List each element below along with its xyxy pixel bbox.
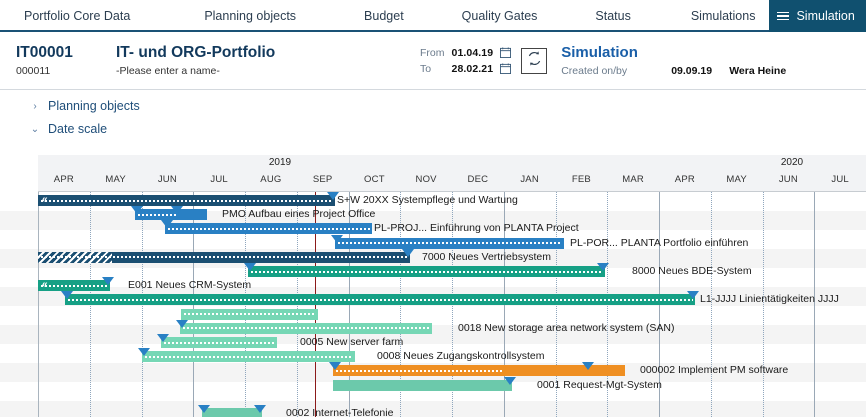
gantt-bar-progress (182, 326, 430, 330)
calendar-icon[interactable] (500, 63, 511, 74)
gantt-bar-label: 7000 Neues Vertriebsystem (422, 252, 551, 263)
scale-month-label: NOV (416, 174, 437, 185)
created-date: 09.09.19 (671, 65, 729, 77)
gantt-bar-progress (183, 312, 316, 316)
created-label: Created on/by (561, 65, 671, 77)
gantt-time-scale-header: 20192020APRMAYJUNJULAUGSEPOCTNOVDECJANFE… (0, 155, 866, 192)
date-range-fields: From 01.04.19 To 28.02.21 (420, 47, 511, 75)
milestone-marker-icon[interactable] (138, 348, 150, 356)
gantt-bar-label: L1-JJJJ Linientätigkeiten JJJJ (700, 294, 839, 305)
gantt-bar-label: 0005 New server farm (300, 337, 403, 348)
gantt-bar-label: S+W 20XX Systempflege und Wartung (337, 195, 518, 206)
milestone-marker-icon[interactable] (687, 291, 699, 299)
simulation-created-row: Created on/by 09.09.19 Wera Heine (561, 65, 786, 77)
portfolio-id: IT00001 (16, 44, 116, 62)
section-label: Planning objects (48, 99, 140, 113)
milestone-marker-icon[interactable] (402, 249, 414, 257)
collapse-left-icon[interactable]: « (42, 194, 47, 205)
gantt-chart: 20192020APRMAYJUNJULAUGSEPOCTNOVDECJANFE… (0, 155, 866, 417)
gantt-bar-progress (335, 369, 502, 373)
portfolio-secondary-row: 000011 -Please enter a name- (16, 65, 420, 77)
scale-month-label: AUG (260, 174, 281, 185)
milestone-marker-icon[interactable] (597, 263, 609, 271)
collapse-left-icon[interactable]: « (42, 279, 47, 290)
to-label: To (420, 63, 445, 75)
gantt-bar-label: PL-PROJ... Einführung von PLANTA Project (374, 223, 579, 234)
calendar-icon[interactable] (500, 47, 511, 58)
milestone-marker-icon[interactable] (329, 362, 341, 370)
tab-label: Planning objects (204, 9, 296, 23)
scale-month-label: MAY (105, 174, 125, 185)
portfolio-sub-name[interactable]: -Please enter a name- (116, 65, 220, 77)
milestone-marker-icon[interactable] (161, 220, 173, 228)
scale-month-label: JUN (158, 174, 177, 185)
milestone-marker-icon[interactable] (582, 362, 594, 370)
scale-month-label: MAY (726, 174, 746, 185)
to-date-input[interactable]: 28.02.21 (452, 63, 494, 75)
header-panel: IT00001 IT- und ORG-Portfolio 000011 -Pl… (0, 32, 866, 90)
section-date-scale[interactable]: ⌄ Date scale (0, 118, 866, 140)
scale-month-label: SEP (313, 174, 333, 185)
gantt-gridline (38, 192, 39, 417)
chevron-right-icon: › (28, 101, 42, 112)
tab-label: Portfolio Core Data (24, 9, 130, 23)
scale-month-label: FEB (572, 174, 591, 185)
milestone-marker-icon[interactable] (198, 405, 210, 413)
created-by-user: Wera Heine (729, 65, 786, 77)
milestone-marker-icon[interactable] (131, 206, 143, 214)
tab-label: Budget (364, 9, 404, 23)
scale-month-label: OCT (364, 174, 385, 185)
milestone-marker-icon[interactable] (61, 291, 73, 299)
milestone-marker-icon[interactable] (176, 320, 188, 328)
gantt-bar-progress (40, 284, 108, 288)
gantt-bar-label: 0018 New storage area network system (SA… (458, 323, 675, 334)
from-date-input[interactable]: 01.04.19 (452, 47, 494, 59)
gantt-bar-progress (144, 355, 353, 359)
scale-month-label: JUN (779, 174, 798, 185)
tab-label: Quality Gates (462, 9, 538, 23)
top-tab-bar: Portfolio Core Data Planning objects Bud… (0, 0, 866, 32)
milestone-marker-icon[interactable] (504, 377, 516, 385)
hamburger-icon[interactable] (777, 12, 789, 21)
gantt-bar-label: 0008 Neues Zugangskontrollsystem (377, 351, 545, 362)
gantt-bar-label: PMO Aufbau eines Project Office (222, 209, 375, 220)
scale-month-label: JUL (210, 174, 228, 185)
scale-month-label: JUL (831, 174, 849, 185)
gantt-bar-progress (163, 341, 275, 345)
gantt-bar[interactable] (333, 380, 512, 391)
tab-portfolio-core-data[interactable]: Portfolio Core Data (10, 0, 144, 32)
scale-month-label: APR (54, 174, 74, 185)
gantt-bar-label: 000002 Implement PM software (640, 365, 788, 376)
tab-quality-gates[interactable]: Quality Gates (448, 0, 552, 32)
scale-month-label: MAR (622, 174, 644, 185)
milestone-marker-icon[interactable] (244, 263, 256, 271)
gantt-row-band (0, 401, 866, 417)
refresh-arrows-icon (526, 50, 543, 72)
scale-month-label: JAN (520, 174, 539, 185)
section-label: Date scale (48, 122, 107, 136)
gantt-row-band (0, 325, 866, 344)
milestone-marker-icon[interactable] (254, 405, 266, 413)
tab-status[interactable]: Status (581, 0, 644, 32)
gantt-bar-label: 8000 Neues BDE-System (632, 266, 752, 277)
scale-month-label: DEC (468, 174, 489, 185)
gantt-bar[interactable] (202, 408, 262, 417)
scale-month-label: APR (675, 174, 695, 185)
gantt-bar-progress (250, 270, 603, 274)
gantt-bar-progress (40, 255, 408, 259)
simulation-info: Simulation Created on/by 09.09.19 Wera H… (561, 44, 786, 77)
scale-year-label: 2019 (269, 157, 291, 168)
refresh-button[interactable] (521, 48, 547, 74)
from-label: From (420, 47, 445, 59)
tab-label: Simulation (796, 9, 854, 23)
simulation-title: Simulation (561, 44, 786, 61)
scale-year-label: 2020 (781, 157, 803, 168)
gantt-bar-label: 0002 Internet-Telefonie (286, 408, 393, 417)
tab-simulations[interactable]: Simulations (677, 0, 770, 32)
tab-label: Simulations (691, 9, 756, 23)
tab-planning-objects[interactable]: Planning objects (190, 0, 310, 32)
milestone-marker-icon[interactable] (157, 334, 169, 342)
gantt-grid: «S+W 20XX Systempflege und WartungPMO Au… (0, 192, 866, 417)
section-planning-objects[interactable]: › Planning objects (0, 95, 866, 117)
gantt-bar-progress (167, 227, 370, 231)
milestone-marker-icon[interactable] (171, 206, 183, 214)
gantt-bar-progress (337, 241, 562, 245)
chevron-down-icon: ⌄ (28, 124, 42, 135)
gantt-bar-label: 0001 Request-Mgt-System (537, 380, 662, 391)
portfolio-sub-id: 000011 (16, 65, 116, 77)
portfolio-primary-row: IT00001 IT- und ORG-Portfolio (16, 44, 420, 62)
tab-label: Status (595, 9, 630, 23)
tab-simulation-active[interactable]: Simulation × (769, 0, 866, 32)
gantt-bar-label: E001 Neues CRM-System (128, 280, 251, 291)
gantt-row-band (0, 306, 866, 325)
gantt-bar-label: PL-POR... PLANTA Portfolio einführen (570, 238, 748, 249)
page-title: IT- und ORG-Portfolio (116, 44, 275, 62)
milestone-marker-icon[interactable] (102, 277, 114, 285)
scale-left-gutter (0, 155, 38, 192)
gantt-bar-progress (67, 298, 693, 302)
tab-budget[interactable]: Budget (350, 0, 418, 32)
portfolio-identity: IT00001 IT- und ORG-Portfolio 000011 -Pl… (0, 44, 420, 77)
milestone-marker-icon[interactable] (331, 235, 343, 243)
gantt-bar-progress (40, 199, 333, 203)
